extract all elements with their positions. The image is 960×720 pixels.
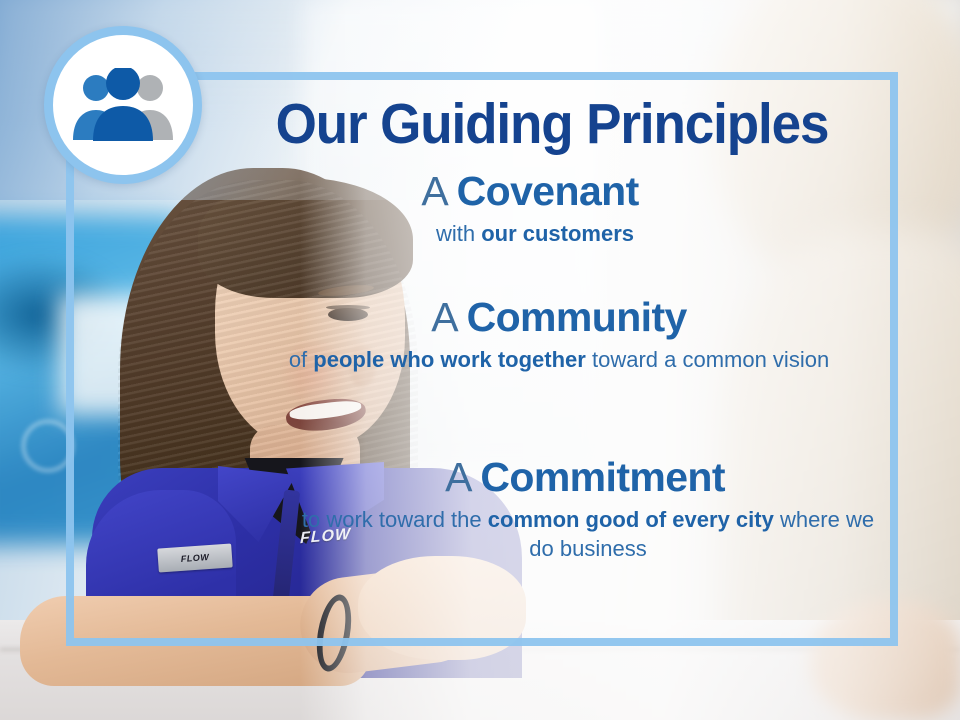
principle-community-keyword: Community bbox=[467, 294, 687, 340]
principle-covenant-body: with our customers bbox=[180, 219, 880, 248]
people-group-icon-badge bbox=[44, 26, 202, 184]
principle-community: A Community of people who work together … bbox=[180, 296, 880, 374]
principle-covenant-body-before: with bbox=[436, 221, 481, 246]
principle-community-lead: A bbox=[431, 294, 456, 340]
principle-community-title: A Community bbox=[238, 296, 880, 339]
principle-commitment-body-bold: common good of every city bbox=[488, 507, 774, 532]
principle-covenant-lead: A bbox=[421, 168, 446, 214]
principle-commitment-keyword: Commitment bbox=[480, 454, 725, 500]
principle-covenant: A Covenant with our customers bbox=[180, 170, 880, 248]
principle-community-body-after: toward a common vision bbox=[586, 347, 829, 372]
principle-commitment: A Commitment to work toward the common g… bbox=[180, 456, 880, 563]
principle-covenant-title: A Covenant bbox=[180, 170, 880, 213]
principle-community-body: of people who work together toward a com… bbox=[238, 345, 880, 374]
principle-covenant-keyword: Covenant bbox=[457, 168, 639, 214]
page-title: Our Guiding Principles bbox=[245, 96, 859, 153]
people-group-icon bbox=[71, 68, 175, 142]
principle-commitment-body: to work toward the common good of every … bbox=[290, 505, 880, 563]
principle-commitment-title: A Commitment bbox=[290, 456, 880, 499]
guiding-principles-graphic: FLOW FLOW Our Guiding Princi bbox=[0, 0, 960, 720]
principle-commitment-lead: A bbox=[445, 454, 470, 500]
principle-community-body-before: of bbox=[289, 347, 313, 372]
text-content: Our Guiding Principles A Covenant with o… bbox=[180, 74, 880, 644]
principle-commitment-body-before: to work toward the bbox=[302, 507, 488, 532]
principle-covenant-body-bold: our customers bbox=[481, 221, 634, 246]
principle-community-body-bold: people who work together bbox=[313, 347, 586, 372]
